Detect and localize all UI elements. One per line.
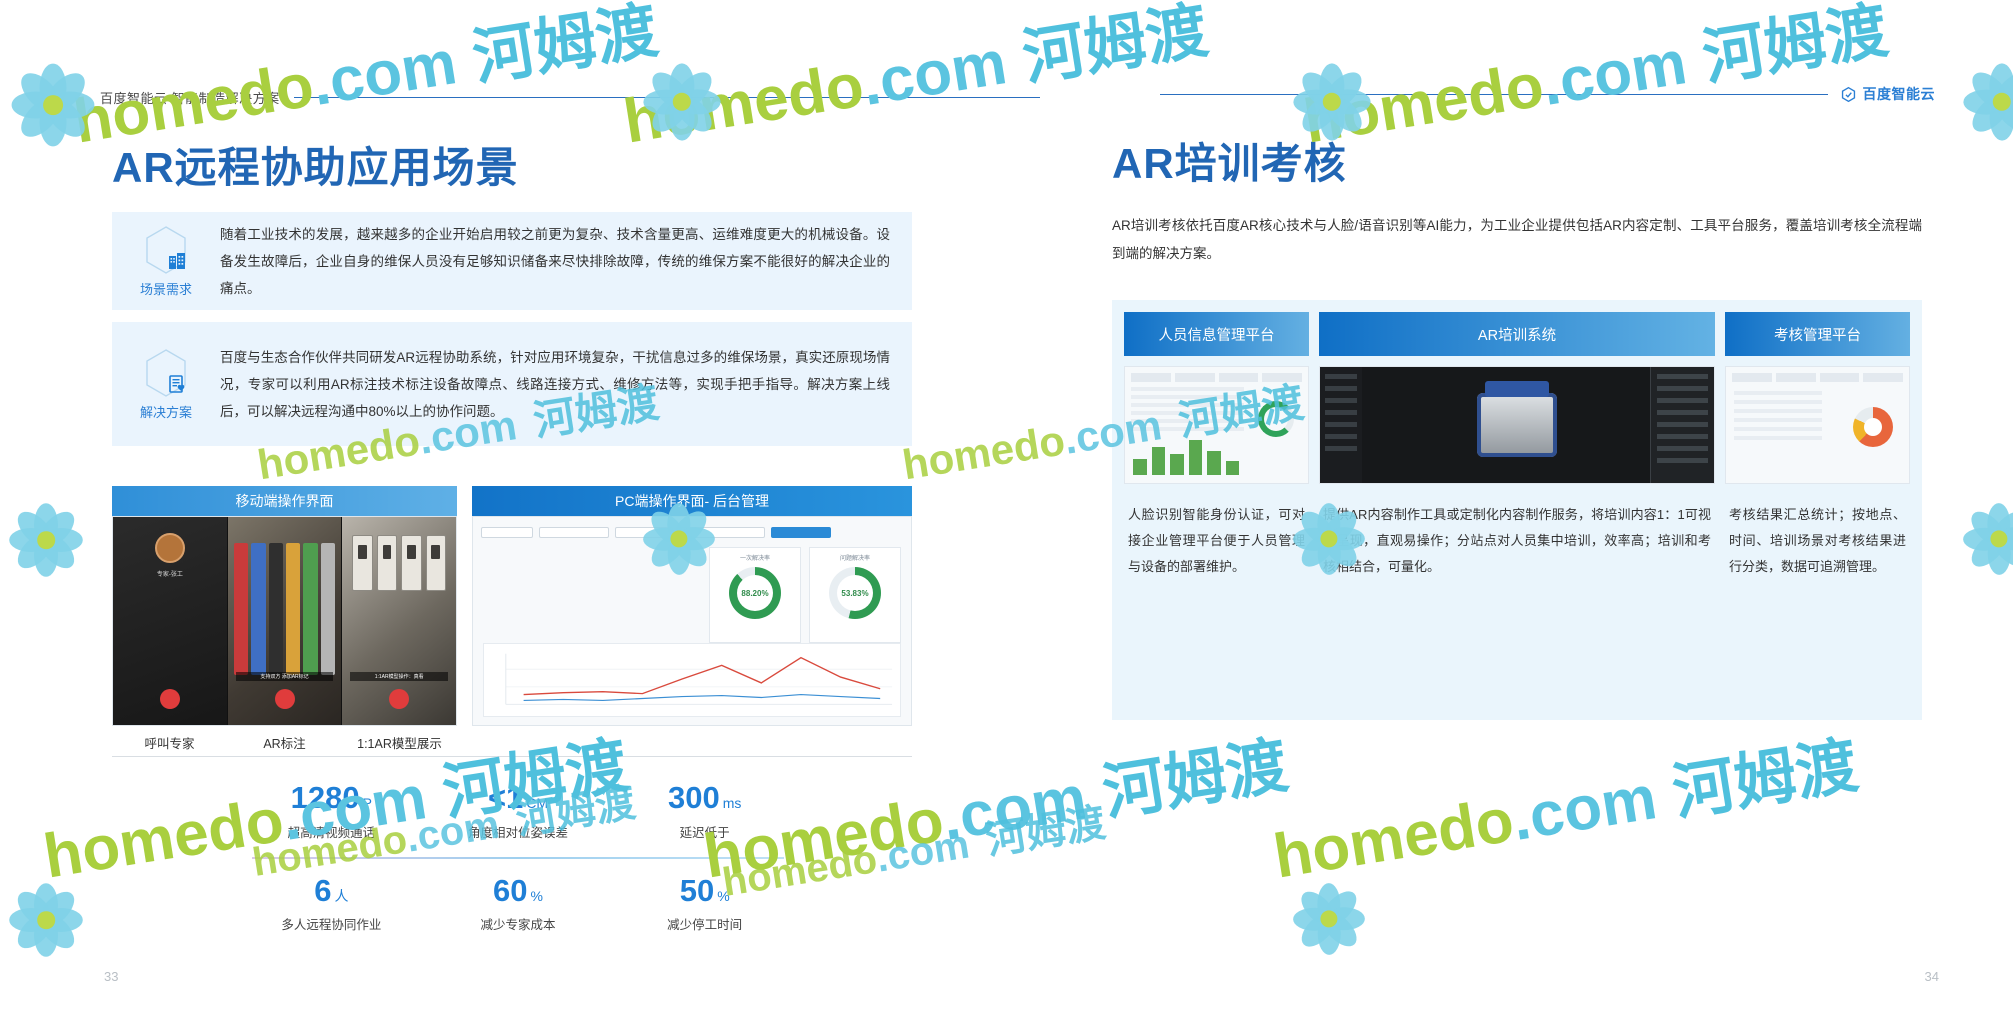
caption-ar-annotate: AR标注 [227, 733, 342, 752]
donut-title: 问题解决率 [840, 553, 870, 562]
wire-photo [234, 543, 336, 675]
info-box-solution: 解决方案 百度与生态合作伙伴共同研发AR远程协助系统，针对应用环境复杂，干扰信息… [112, 322, 912, 446]
pc-toolbar [481, 525, 903, 539]
donut-value: 88.20% [741, 589, 768, 598]
caption-call-expert: 呼叫专家 [112, 733, 227, 752]
stat-item: 1280P 超高清视频通话 [238, 780, 425, 841]
pc-donut-cards: 一次解决率 88.20% 问题解决率 53.83% [709, 547, 901, 643]
assessment-report-screenshot [1725, 366, 1910, 484]
caption-ar-model: 1:1AR模型展示 [342, 733, 457, 752]
stat-value: 6 [314, 873, 331, 908]
info-box-icon-wrap: 场景需求 [112, 225, 220, 298]
stat-unit: 人 [334, 888, 348, 904]
mobile-screenshot-3d-model: 1:1AR模型操作：真看 [342, 517, 456, 725]
donut-chart: 53.83% [829, 567, 881, 619]
stat-unit: P [363, 795, 372, 811]
stat-value: 60 [493, 873, 527, 908]
donut-card: 一次解决率 88.20% [709, 547, 801, 643]
panel-title-mobile: 移动端操作界面 [112, 486, 457, 516]
card-text: 人脸识别智能身份认证，可对接企业管理平台便于人员管理与设备的部署维护。 [1124, 502, 1309, 580]
page-description: AR培训考核依托百度AR核心技术与人脸/语音识别等AI能力，为工业企业提供包括A… [1112, 212, 1922, 269]
stat-item: 6人 多人远程协同作业 [238, 873, 425, 934]
right-page-header: 百度智能云 [1160, 84, 1935, 104]
info-box-text: 百度与生态合作伙伴共同研发AR远程协助系统，针对应用环境复杂，干扰信息过多的维保… [220, 344, 912, 425]
hangup-icon [160, 689, 180, 709]
mobile-screenshot-call: 专家-张工 [113, 517, 228, 725]
hangup-icon [389, 689, 409, 709]
card-assessment-platform: 考核管理平台 考核结果汇总统计；按地点、时间、培训场景对考核结果进行分类，数据可… [1725, 312, 1910, 708]
pc-backend-screenshot: 一次解决率 88.20% 问题解决率 53.83% [472, 516, 912, 726]
stat-label: 超高清视频通话 [238, 822, 425, 841]
info-box-scenario: 场景需求 随着工业技术的发展，越来越多的企业开始启用较之前更为复杂、技术含量更高… [112, 212, 912, 310]
info-box-icon-wrap: 解决方案 [112, 348, 220, 421]
stat-value: 300 [668, 780, 720, 815]
panel-title-pc: PC端操作界面- 后台管理 [472, 486, 912, 516]
factory-building-icon [144, 225, 188, 275]
page-title: AR培训考核 [1112, 130, 1347, 191]
avatar [155, 533, 185, 563]
3d-engine-model-screenshot [1319, 366, 1715, 484]
brand-name: 百度智能云 [1863, 84, 1936, 104]
ar-hint-bar: 1:1AR模型操作：真看 [350, 672, 448, 681]
donut-value: 53.83% [841, 589, 868, 598]
info-box-label: 解决方案 [140, 402, 192, 421]
card-text: 提供AR内容制作工具或定制化内容制作服务，将培训内容1：1可视化呈现，直观易操作… [1319, 502, 1715, 580]
stat-item: <1CM 角度相对位姿误差 [425, 780, 612, 841]
stat-value: 1280 [291, 780, 360, 815]
document-heart-icon [144, 348, 188, 398]
dashboard-bar-chart-screenshot [1124, 366, 1309, 484]
expert-name: 专家-张工 [113, 569, 227, 578]
stats-row-1: 1280P 超高清视频通话 <1CM 角度相对位姿误差 300ms 延迟低于 [238, 780, 798, 841]
stat-label: 减少停工时间 [611, 914, 798, 933]
page-left: 百度智能云 智能制造解决方案 AR远程协助应用场景 [0, 0, 1100, 1020]
divider [112, 756, 912, 757]
stat-value: 50 [680, 873, 714, 908]
baidu-cloud-logo-icon [1840, 86, 1857, 103]
donut-card: 问题解决率 53.83% [809, 547, 901, 643]
stat-item: 60% 减少专家成本 [425, 873, 612, 934]
pie-chart-icon [1853, 407, 1893, 447]
platform-cards: 人员信息管理平台 人脸识别智能身份认证，可对接企业管理平台便于人员管理与设备的部… [1112, 300, 1922, 720]
stat-label: 延迟低于 [611, 822, 798, 841]
header-rule [1160, 94, 1828, 95]
stat-label: 多人远程协同作业 [238, 914, 425, 933]
two-page-spread: 百度智能云 智能制造解决方案 AR远程协助应用场景 [0, 0, 2013, 1020]
donut-title: 一次解决率 [740, 553, 770, 562]
stats-block: 1280P 超高清视频通话 <1CM 角度相对位姿误差 300ms 延迟低于 6… [238, 780, 798, 933]
card-ar-training-system: AR培训系统 提供AR内容制作工具或定制化内容制作服务，将培训内容1：1可视化呈… [1319, 312, 1715, 708]
stat-unit: % [717, 888, 729, 904]
stats-row-2: 6人 多人远程协同作业 60% 减少专家成本 50% 减少停工时间 [238, 873, 798, 934]
header-rule [294, 97, 1040, 98]
info-box-text: 随着工业技术的发展，越来越多的企业开始启用较之前更为复杂、技术含量更高、运维难度… [220, 221, 912, 302]
stat-item: 50% 减少停工时间 [611, 873, 798, 934]
header-breadcrumb: 百度智能云 智能制造解决方案 [100, 88, 280, 107]
pc-line-chart [483, 643, 901, 717]
info-box-label: 场景需求 [140, 279, 192, 298]
ar-hint-bar: 支持双方 添加AR标记 [236, 672, 334, 681]
stat-unit: CM [526, 795, 548, 811]
mobile-screenshot-ar-annotate: 支持双方 添加AR标记 [228, 517, 343, 725]
engine-model-icon [1477, 393, 1557, 457]
card-title: 人员信息管理平台 [1124, 312, 1309, 356]
card-text: 考核结果汇总统计；按地点、时间、培训场景对考核结果进行分类，数据可追溯管理。 [1725, 502, 1910, 580]
stat-label: 减少专家成本 [425, 914, 612, 933]
card-title: 考核管理平台 [1725, 312, 1910, 356]
donut-chart: 88.20% [729, 567, 781, 619]
stat-label: 角度相对位姿误差 [425, 822, 612, 841]
page-title: AR远程协助应用场景 [112, 134, 519, 195]
left-page-header: 百度智能云 智能制造解决方案 [100, 88, 1040, 107]
mobile-screenshots: 专家-张工 支持双方 添加AR标记 1:1AR模型操作：真看 [112, 516, 457, 726]
card-personnel-platform: 人员信息管理平台 人脸识别智能身份认证，可对接企业管理平台便于人员管理与设备的部… [1124, 312, 1309, 708]
page-number-right: 34 [1925, 969, 1939, 984]
stat-unit: % [531, 888, 543, 904]
stat-item: 300ms 延迟低于 [611, 780, 798, 841]
brand-logo-group: 百度智能云 [1840, 84, 1936, 104]
hangup-icon [275, 689, 295, 709]
mobile-captions: 呼叫专家 AR标注 1:1AR模型展示 [112, 728, 457, 756]
card-title: AR培训系统 [1319, 312, 1715, 356]
ring-chart-icon [1258, 401, 1294, 437]
stat-unit: ms [723, 795, 742, 811]
stats-divider [252, 857, 784, 859]
breaker-photo [352, 535, 446, 591]
page-right: 百度智能云 AR培训考核 AR培训考核依托百度AR核心技术与人脸/语音识别等AI… [1100, 0, 2013, 1020]
stat-value: <1 [488, 780, 523, 815]
page-number-left: 33 [104, 969, 118, 984]
